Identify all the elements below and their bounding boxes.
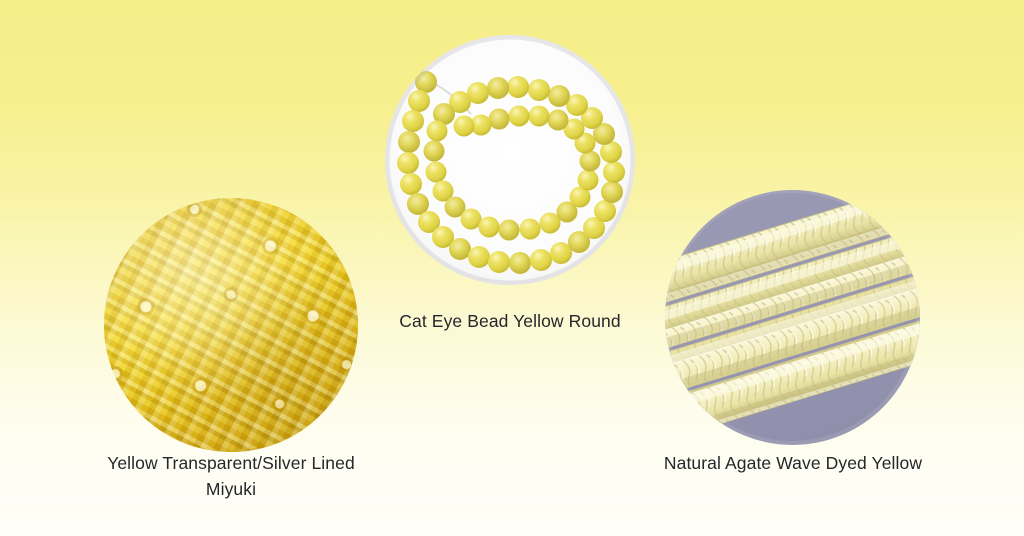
miyuki-photo-sheen [104, 198, 358, 452]
miyuki-caption: Yellow Transparent/Silver Lined Miyuki [81, 450, 381, 502]
cat-eye-caption: Cat Eye Bead Yellow Round [385, 308, 635, 334]
agate-wave-strands-photo [665, 190, 920, 445]
collage-canvas: Yellow Transparent/Silver Lined Miyuki [0, 0, 1024, 536]
cat-eye-bead-strand-photo [385, 35, 635, 285]
agate-strands-illustration [665, 190, 920, 445]
cat-eye-bead-inner-loop [424, 106, 601, 241]
agate-caption: Natural Agate Wave Dyed Yellow [648, 450, 938, 476]
miyuki-seed-beads-photo [104, 198, 358, 452]
cat-eye-strand-illustration [385, 35, 635, 285]
